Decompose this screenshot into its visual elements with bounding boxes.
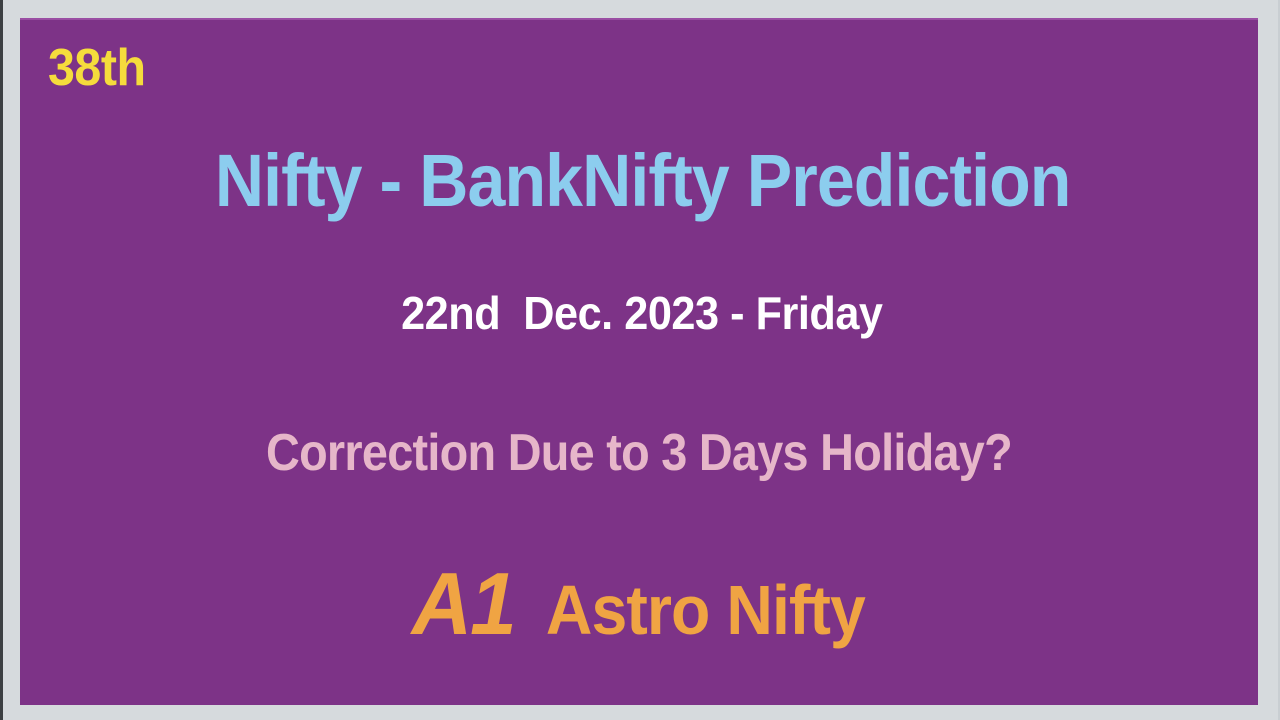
slide-date-line: 22nd Dec. 2023 - Friday — [57, 288, 1221, 339]
brand-lockup: A1Astro Nifty — [20, 560, 1258, 648]
brand-mark-a1: A1 — [412, 560, 515, 648]
slide-title: Nifty - BankNifty Prediction — [70, 140, 1209, 221]
slide-tagline: Correction Due to 3 Days Holiday? — [82, 425, 1196, 482]
episode-ordinal-badge: 38th — [48, 42, 146, 94]
frame-left-edge — [0, 0, 3, 720]
prediction-slide-panel: 38th Nifty - BankNifty Prediction 22nd D… — [20, 18, 1258, 705]
brand-name-astro-nifty: Astro Nifty — [546, 575, 865, 645]
